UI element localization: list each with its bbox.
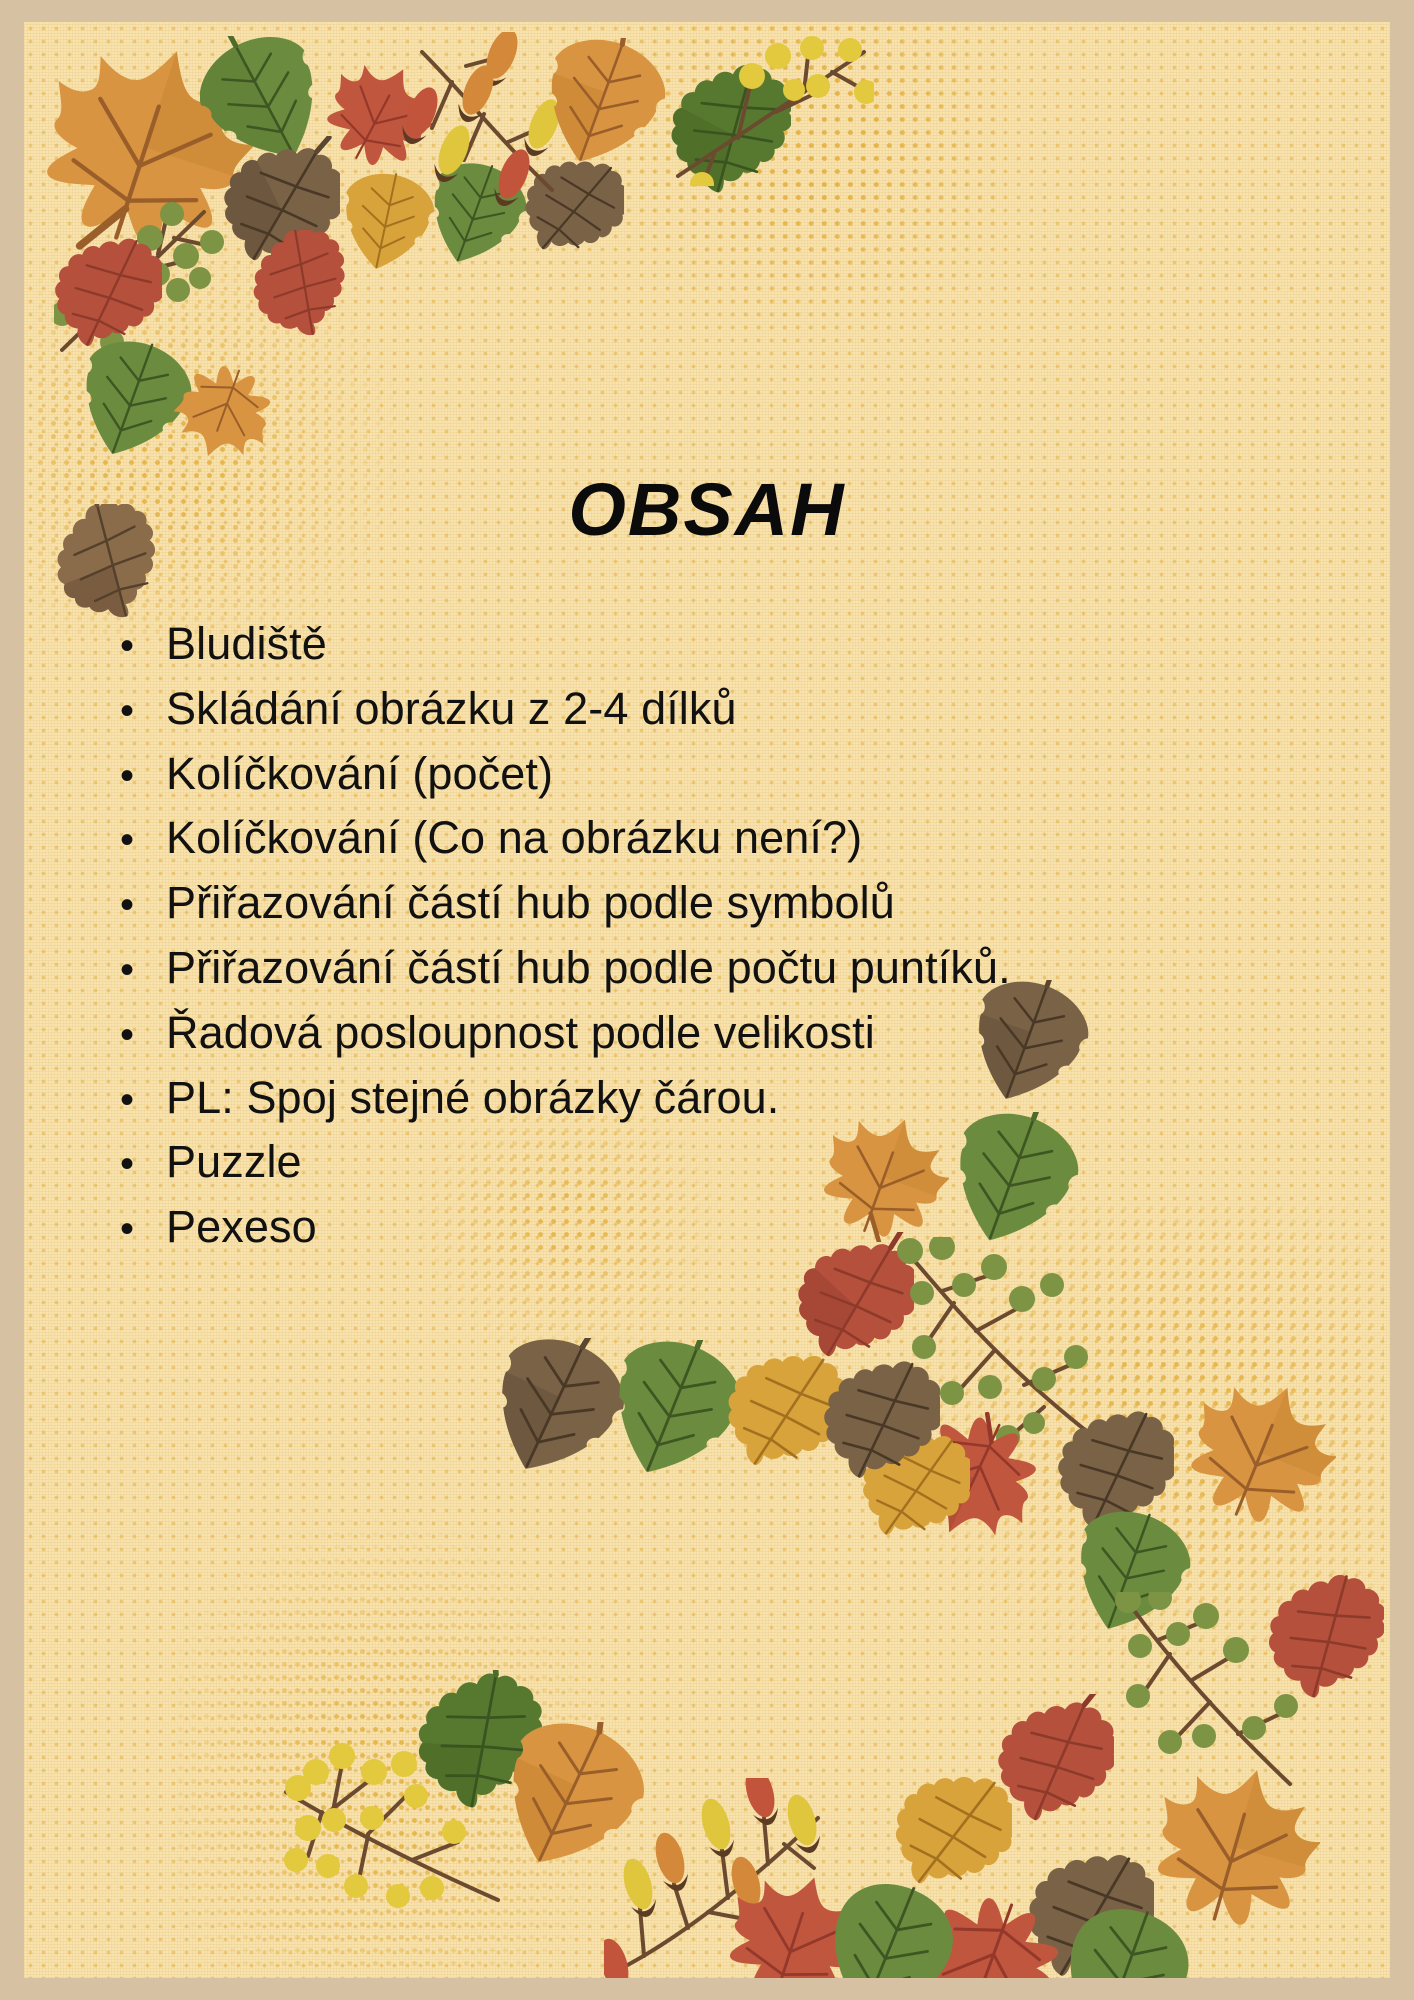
- list-item-label: Bludiště: [166, 612, 1270, 677]
- list-item: • Puzzle: [120, 1130, 1270, 1195]
- birch-leaf-green-bottomcenter-2: [818, 1882, 958, 1978]
- oak-leaf-red-bottomright-3: [1254, 1570, 1384, 1700]
- maple-leaf-orange-topleft: [38, 40, 253, 255]
- acorn-branch-bottom: [604, 1778, 834, 1978]
- list-item-label: Kolíčkování (počet): [166, 742, 1270, 807]
- maple-leaf-red-bottomright: [910, 1412, 1040, 1542]
- birch-leaf-green-topleft: [200, 36, 330, 166]
- oak-leaf-brown-bottomcenter: [484, 1338, 624, 1478]
- oak-leaf-gold-bottomright: [850, 1422, 970, 1542]
- table-of-contents-list: • Bludiště • Skládání obrázku z 2-4 dílk…: [120, 612, 1270, 1260]
- list-item-label: Přiřazování částí hub podle počtu puntík…: [166, 936, 1270, 1001]
- bullet-icon: •: [120, 950, 166, 990]
- list-item-label: Přiřazování částí hub podle symbolů: [166, 871, 1270, 936]
- maple-leaf-orange-bottomright-2: [1186, 1378, 1336, 1528]
- oak-leaf-brown-topleft: [210, 136, 340, 266]
- bullet-icon: •: [120, 885, 166, 925]
- oak-leaf-green-topright: [656, 60, 791, 195]
- bullet-icon: •: [120, 1144, 166, 1184]
- list-item: • Kolíčkování (počet): [120, 742, 1270, 807]
- oak-leaf-brown-bottom: [1014, 1842, 1154, 1978]
- birch-leaf-gold-topleft: [336, 172, 436, 272]
- halftone-cloud-top-left: [34, 222, 414, 642]
- list-item: • Přiřazování částí hub podle symbolů: [120, 871, 1270, 936]
- halftone-cloud-top-right: [584, 22, 1004, 352]
- bullet-icon: •: [120, 626, 166, 666]
- list-item: • Kolíčkování (Co na obrázku není?): [120, 806, 1270, 871]
- berry-branch-green-bottomright-2: [1114, 1592, 1304, 1792]
- oak-leaf-red-topleft-2: [240, 230, 350, 340]
- page-title: OBSAH: [24, 467, 1390, 552]
- poster-page: OBSAH • Bludiště • Skládání obrázku z 2-…: [24, 22, 1390, 1978]
- berry-branch-green-topleft: [54, 190, 254, 365]
- list-item: • Pexeso: [120, 1195, 1270, 1260]
- list-item: • Bludiště: [120, 612, 1270, 677]
- berry-branch-yellow-bottomleft: [272, 1700, 502, 1920]
- oak-leaf-red-bottom: [984, 1694, 1114, 1824]
- bullet-icon: •: [120, 691, 166, 731]
- maple-leaf-red-topleft: [324, 60, 434, 170]
- list-item: • Přiřazování částí hub podle počtu punt…: [120, 936, 1270, 1001]
- list-item: • PL: Spoj stejné obrázky čárou.: [120, 1066, 1270, 1131]
- oak-leaf-brown-bottomcenter-2: [810, 1352, 940, 1482]
- birch-leaf-green-bottomcenter: [602, 1340, 742, 1480]
- list-item-label: Řadová posloupnost podle velikosti: [166, 1001, 1270, 1066]
- berry-branch-yellow-topright: [674, 36, 874, 186]
- oak-leaf-green-bottomleft: [402, 1670, 542, 1810]
- maple-leaf-orange-left: [174, 362, 274, 462]
- halftone-cloud-bottom-left: [174, 1502, 634, 1972]
- bullet-icon: •: [120, 1209, 166, 1249]
- bullet-icon: •: [120, 820, 166, 860]
- bullet-icon: •: [120, 1080, 166, 1120]
- oak-leaf-brown-bottomright-2: [1044, 1402, 1174, 1532]
- oak-leaf-brown-topmid: [514, 148, 624, 258]
- maple-leaf-red-bottomcenter: [724, 1870, 864, 1978]
- bullet-icon: •: [120, 756, 166, 796]
- birch-leaf-orange-top: [536, 38, 666, 168]
- list-item: • Řadová posloupnost podle velikosti: [120, 1001, 1270, 1066]
- birch-leaf-green-bottom: [1054, 1907, 1194, 1978]
- berry-branch-green-bottomright: [894, 1237, 1114, 1447]
- birch-leaf-orange-bottomleft: [494, 1722, 644, 1872]
- oak-leaf-red-topleft: [42, 230, 162, 350]
- list-item-label: Skládání obrázku z 2-4 dílků: [166, 677, 1270, 742]
- maple-leaf-red-bottom: [914, 1892, 1064, 1978]
- list-item-label: PL: Spoj stejné obrázky čárou.: [166, 1066, 1270, 1131]
- list-item: • Skládání obrázku z 2-4 dílků: [120, 677, 1270, 742]
- list-item-label: Kolíčkování (Co na obrázku není?): [166, 806, 1270, 871]
- birch-leaf-green-left: [72, 340, 192, 460]
- oak-leaf-gold-bottom: [882, 1762, 1012, 1892]
- list-item-label: Pexeso: [166, 1195, 1270, 1260]
- oak-leaf-gold-bottomcenter: [714, 1342, 844, 1472]
- birch-leaf-green-bottomright-2: [1066, 1510, 1191, 1635]
- halftone-cloud-bottom-right: [884, 1202, 1384, 1682]
- acorn-branch-top: [392, 32, 582, 212]
- birch-leaf-green-topmid: [422, 162, 527, 267]
- bullet-icon: •: [120, 1015, 166, 1055]
- maple-leaf-orange-bottomright-3: [1150, 1762, 1320, 1932]
- list-item-label: Puzzle: [166, 1130, 1270, 1195]
